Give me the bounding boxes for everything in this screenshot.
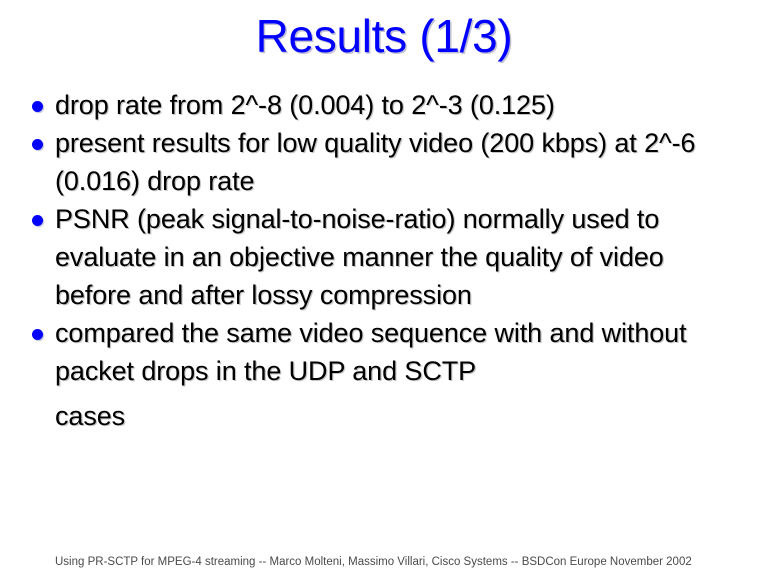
bullet-list: drop rate from 2^-8 (0.004) to 2^-3 (0.1… (26, 86, 742, 435)
list-item-label: compared the same video sequence with an… (55, 314, 742, 390)
list-item-label: drop rate from 2^-8 (0.004) to 2^-3 (0.1… (55, 86, 742, 124)
list-item-label: present results for low quality video (2… (55, 124, 742, 200)
disc-bullet-icon (32, 139, 43, 150)
list-item: present results for low quality video (2… (26, 124, 742, 200)
list-item: drop rate from 2^-8 (0.004) to 2^-3 (0.1… (26, 86, 742, 124)
list-item-label: PSNR (peak signal-to-noise-ratio) normal… (55, 200, 742, 314)
presentation-slide: Results (1/3) drop rate from 2^-8 (0.004… (0, 0, 768, 576)
disc-bullet-icon (32, 215, 43, 226)
page-title: Results (1/3) (0, 8, 768, 64)
disc-bullet-icon (32, 101, 43, 112)
list-item-label-continuation: cases (55, 397, 742, 435)
list-item: compared the same video sequence with an… (26, 314, 742, 435)
list-item: PSNR (peak signal-to-noise-ratio) normal… (26, 200, 742, 314)
disc-bullet-icon (32, 329, 43, 340)
slide-footer: Using PR-SCTP for MPEG-4 streaming -- Ma… (55, 554, 755, 570)
